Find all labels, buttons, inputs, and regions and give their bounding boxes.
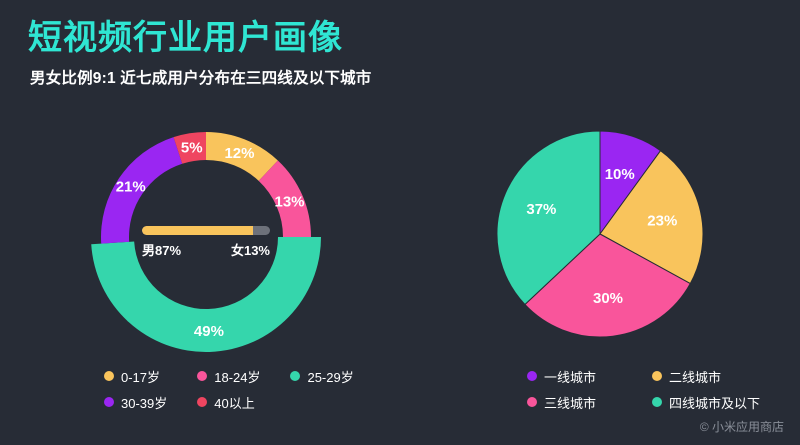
city-legend-item[interactable]: 一线城市 — [527, 363, 652, 389]
pie-slice-label: 30% — [593, 290, 623, 307]
gender-bar-fill-male — [142, 226, 253, 235]
city-tier-pie-chart: 10%23%30%37% — [400, 122, 800, 367]
age-legend-item[interactable]: 40以上 — [197, 389, 290, 415]
gender-female-label: 女13% — [231, 240, 270, 259]
age-legend-label: 30-39岁 — [121, 393, 167, 412]
age-donut-chart: 12%13%49%21%5% 男87% 女13% — [6, 122, 406, 367]
age-legend-label: 18-24岁 — [214, 367, 260, 386]
gender-male-label: 男87% — [142, 240, 181, 259]
pie-slice-label: 37% — [526, 201, 556, 218]
legend-color-dot-icon — [652, 371, 662, 381]
legend-color-dot-icon — [104, 397, 114, 407]
donut-slice-label: 5% — [181, 140, 203, 157]
charts-area: 12%13%49%21%5% 男87% 女13% 10%23%30%37% — [0, 122, 800, 367]
pie-slice-label: 10% — [605, 166, 635, 183]
city-legend: 一线城市二线城市三线城市四线城市及以下 — [527, 363, 777, 415]
age-legend-item[interactable]: 25-29岁 — [290, 363, 383, 389]
legend-color-dot-icon — [652, 397, 662, 407]
header: 短视频行业用户画像 男女比例9:1 近七成用户分布在三四线及以下城市 — [28, 18, 548, 88]
age-legend-label: 0-17岁 — [121, 367, 160, 386]
city-legend-item[interactable]: 二线城市 — [652, 363, 777, 389]
legend-color-dot-icon — [290, 371, 300, 381]
legend-color-dot-icon — [197, 371, 207, 381]
donut-slice-label: 13% — [275, 193, 305, 210]
gender-bar-track — [142, 226, 270, 235]
donut-slice-label: 21% — [116, 178, 146, 195]
city-legend-label: 一线城市 — [544, 367, 596, 386]
city-legend-label: 三线城市 — [544, 393, 596, 412]
donut-slice-label: 49% — [194, 323, 224, 340]
page-title: 短视频行业用户画像 — [28, 18, 548, 58]
infographic-page: 短视频行业用户画像 男女比例9:1 近七成用户分布在三四线及以下城市 12%13… — [0, 0, 800, 445]
city-legend-item[interactable]: 三线城市 — [527, 389, 652, 415]
pie-slice-label: 23% — [647, 213, 677, 230]
age-legend-label: 25-29岁 — [307, 367, 353, 386]
donut-slice-label: 12% — [224, 145, 254, 162]
city-legend-item[interactable]: 四线城市及以下 — [652, 389, 777, 415]
age-legend-item[interactable]: 0-17岁 — [104, 363, 197, 389]
legend-color-dot-icon — [197, 397, 207, 407]
age-legend-label: 40以上 — [214, 393, 254, 412]
age-legend-item[interactable]: 30-39岁 — [104, 389, 197, 415]
age-legend-item[interactable]: 18-24岁 — [197, 363, 290, 389]
city-legend-label: 四线城市及以下 — [669, 393, 760, 412]
legend-color-dot-icon — [527, 371, 537, 381]
gender-ratio-widget: 男87% 女13% — [142, 226, 270, 259]
city-legend-label: 二线城市 — [669, 367, 721, 386]
page-subtitle: 男女比例9:1 近七成用户分布在三四线及以下城市 — [30, 66, 548, 88]
footer-credit: © 小米应用商店 — [700, 418, 784, 435]
age-legend: 0-17岁18-24岁25-29岁30-39岁40以上 — [104, 363, 384, 415]
gender-bar-labels: 男87% 女13% — [142, 240, 270, 259]
legend-color-dot-icon — [104, 371, 114, 381]
city-tier-pie-svg: 10%23%30%37% — [490, 122, 710, 367]
legend-color-dot-icon — [527, 397, 537, 407]
